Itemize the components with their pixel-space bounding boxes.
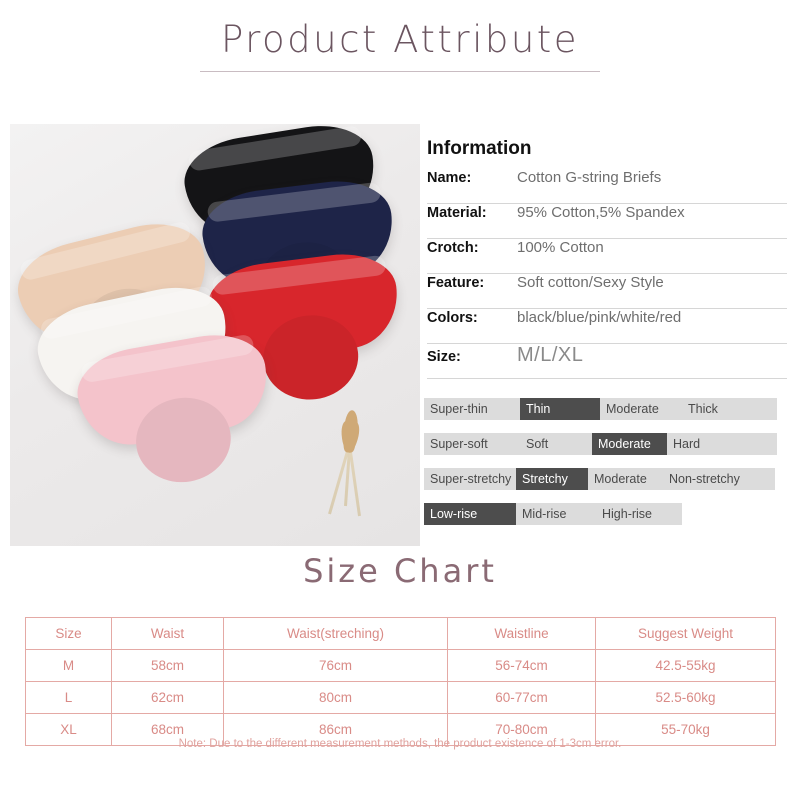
information-heading: Information [427, 138, 787, 160]
scale-segment-active: Thin [520, 398, 600, 420]
title-divider [200, 71, 600, 72]
scale-segment: Moderate [600, 398, 682, 420]
scale-segment-active: Moderate [592, 433, 667, 455]
info-label: Name: [427, 170, 517, 186]
table-row: M58cm76cm56-74cm42.5-55kg [26, 650, 776, 682]
information-section: Information Name: Cotton G-string Briefs… [427, 138, 787, 379]
table-cell: 76cm [224, 650, 448, 682]
scale-segment: Thick [682, 398, 777, 420]
garment-notch [170, 406, 186, 434]
info-row-name: Name: Cotton G-string Briefs [427, 169, 787, 204]
attribute-scale-stretch: Super-stretchyStretchyModerateNon-stretc… [424, 468, 775, 490]
table-cell: 56-74cm [448, 650, 596, 682]
page-header: Product Attribute [0, 0, 800, 86]
product-photo [10, 124, 420, 546]
info-label: Colors: [427, 310, 517, 326]
scale-segment: Hard [667, 433, 777, 455]
info-value: Soft cotton/Sexy Style [517, 274, 664, 291]
info-row-colors: Colors: black/blue/pink/white/red [427, 309, 787, 344]
column-header: Waistline [448, 618, 596, 650]
page-title: Product Attribute [0, 18, 800, 61]
attribute-scale-thickness: Super-thinThinModerateThick [424, 398, 777, 420]
attribute-scales: Super-thinThinModerateThickSuper-softSof… [424, 398, 780, 538]
info-row-material: Material: 95% Cotton,5% Spandex [427, 204, 787, 239]
column-header: Waist(streching) [224, 618, 448, 650]
info-value: 100% Cotton [517, 239, 604, 256]
info-label: Size: [427, 349, 517, 365]
scale-segment: Mid-rise [516, 503, 596, 525]
table-header-row: SizeWaistWaist(streching)WaistlineSugges… [26, 618, 776, 650]
info-value: black/blue/pink/white/red [517, 309, 681, 326]
table-cell: 42.5-55kg [596, 650, 776, 682]
dried-grass-stem [348, 446, 361, 516]
size-chart-note: Note: Due to the different measurement m… [0, 738, 800, 750]
scale-segment-active: Low-rise [424, 503, 516, 525]
lace-trim [187, 125, 363, 172]
table-cell: 58cm [112, 650, 224, 682]
info-label: Crotch: [427, 240, 517, 256]
scale-segment: Super-thin [424, 398, 520, 420]
table-cell: 62cm [112, 682, 224, 714]
scale-segment: Non-stretchy [663, 468, 775, 490]
attribute-scale-rise: Low-riseMid-riseHigh-rise [424, 503, 682, 525]
garment-notch [299, 323, 314, 350]
info-value: M/L/XL [517, 344, 583, 367]
column-header: Size [26, 618, 112, 650]
scale-segment: Super-stretchy [424, 468, 516, 490]
scale-segment: Moderate [588, 468, 663, 490]
info-label: Feature: [427, 275, 517, 291]
table-cell: 80cm [224, 682, 448, 714]
scale-segment: Soft [520, 433, 592, 455]
column-header: Suggest Weight [596, 618, 776, 650]
table-cell: M [26, 650, 112, 682]
info-label: Material: [427, 205, 517, 221]
info-row-crotch: Crotch: 100% Cotton [427, 239, 787, 274]
lace-trim [18, 220, 192, 282]
column-header: Waist [112, 618, 224, 650]
table-cell: L [26, 682, 112, 714]
size-chart-title: Size Chart [0, 552, 800, 590]
info-value: 95% Cotton,5% Spandex [517, 204, 685, 221]
info-row-feature: Feature: Soft cotton/Sexy Style [427, 274, 787, 309]
info-row-size: Size: M/L/XL [427, 344, 787, 379]
table-row: L62cm80cm60-77cm52.5-60kg [26, 682, 776, 714]
scale-segment-active: Stretchy [516, 468, 588, 490]
scale-segment: High-rise [596, 503, 682, 525]
table-cell: 60-77cm [448, 682, 596, 714]
table-cell: 52.5-60kg [596, 682, 776, 714]
info-value: Cotton G-string Briefs [517, 169, 661, 186]
size-chart-table: SizeWaistWaist(streching)WaistlineSugges… [25, 617, 776, 746]
scale-segment: Super-soft [424, 433, 520, 455]
attribute-scale-softness: Super-softSoftModerateHard [424, 433, 777, 455]
